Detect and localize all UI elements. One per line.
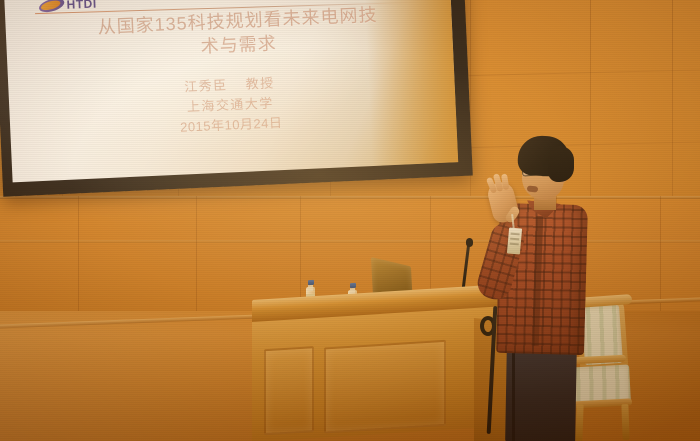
microphone-icon <box>466 238 473 247</box>
name-badge <box>507 227 522 254</box>
htdi-logo-text: HTDI <box>66 0 97 12</box>
presenter-hair-back <box>548 146 574 182</box>
lectern-panel <box>264 346 314 435</box>
chair-leg <box>621 404 629 440</box>
lectern-panel <box>324 340 446 434</box>
lecture-photo: HTDI 从国家135科技规划看未来电网技 术与需求 江秀臣教授 上海交通大学 … <box>0 0 700 441</box>
wainscot-seam <box>660 196 661 324</box>
wooden-lectern <box>252 300 502 441</box>
presenter <box>478 136 598 441</box>
presenter-mouth <box>527 185 539 192</box>
wainscot-seam <box>196 196 197 324</box>
screen-surface: HTDI 从国家135科技规划看未来电网技 术与需求 江秀臣教授 上海交通大学 … <box>4 0 458 182</box>
lectern-body <box>252 306 502 441</box>
trouser-seam <box>512 352 515 441</box>
presenter-rank: 教授 <box>245 75 275 91</box>
presenter-trousers <box>505 343 577 441</box>
wainscot-seam <box>78 196 79 324</box>
presenter-name: 江秀臣 <box>184 78 228 95</box>
projection-screen: HTDI 从国家135科技规划看未来电网技 术与需求 江秀臣教授 上海交通大学 … <box>0 0 473 197</box>
screen-unlit-area <box>364 0 458 166</box>
ellipse-emblem-icon <box>38 0 65 13</box>
slide-subtitle: 江秀臣教授 上海交通大学 2015年10月24日 <box>104 70 356 141</box>
